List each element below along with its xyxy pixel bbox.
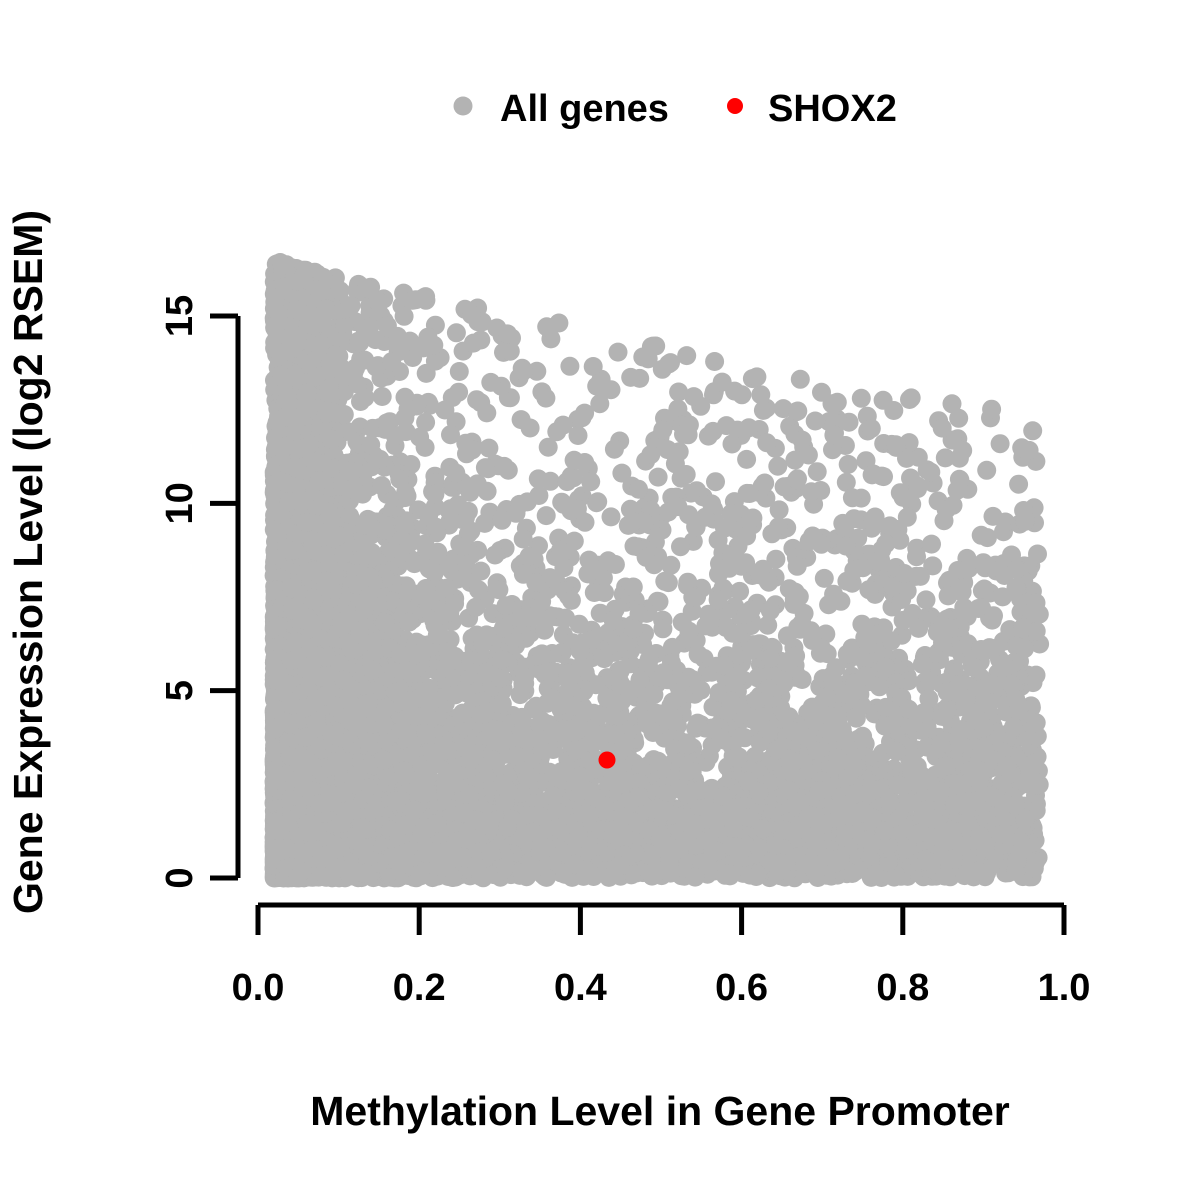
legend-label-shox2: SHOX2 <box>768 88 897 130</box>
legend-dot-all-genes <box>454 97 473 116</box>
scatter-plot-figure: 051015 0.00.20.40.60.81.0 Methylation Le… <box>0 0 1200 1200</box>
x-axis-tick-label: 0.0 <box>232 967 285 1009</box>
y-axis-tick-label: 5 <box>159 680 201 701</box>
shox2-data-point <box>598 751 615 768</box>
x-axis-title: Methylation Level in Gene Promoter <box>310 1088 1009 1134</box>
legend-dot-shox2 <box>727 98 743 114</box>
y-axis-tick-label: 0 <box>159 867 201 888</box>
x-axis-tick-label: 0.8 <box>876 967 929 1009</box>
x-axis-tick-label: 0.6 <box>715 967 768 1009</box>
x-axis-tick-label: 0.4 <box>554 967 607 1009</box>
plot-canvas: 051015 0.00.20.40.60.81.0 Methylation Le… <box>0 0 1200 1200</box>
x-axis-tick-label: 0.2 <box>393 967 446 1009</box>
x-axis-tick-label: 1.0 <box>1038 967 1091 1009</box>
legend-label-all-genes: All genes <box>500 88 669 130</box>
y-axis-tick-label: 15 <box>159 295 201 337</box>
y-axis-title: Gene Expression Level (log2 RSEM) <box>5 210 51 914</box>
y-axis-tick-label: 10 <box>159 482 201 524</box>
data-points-shox2 <box>598 751 615 768</box>
